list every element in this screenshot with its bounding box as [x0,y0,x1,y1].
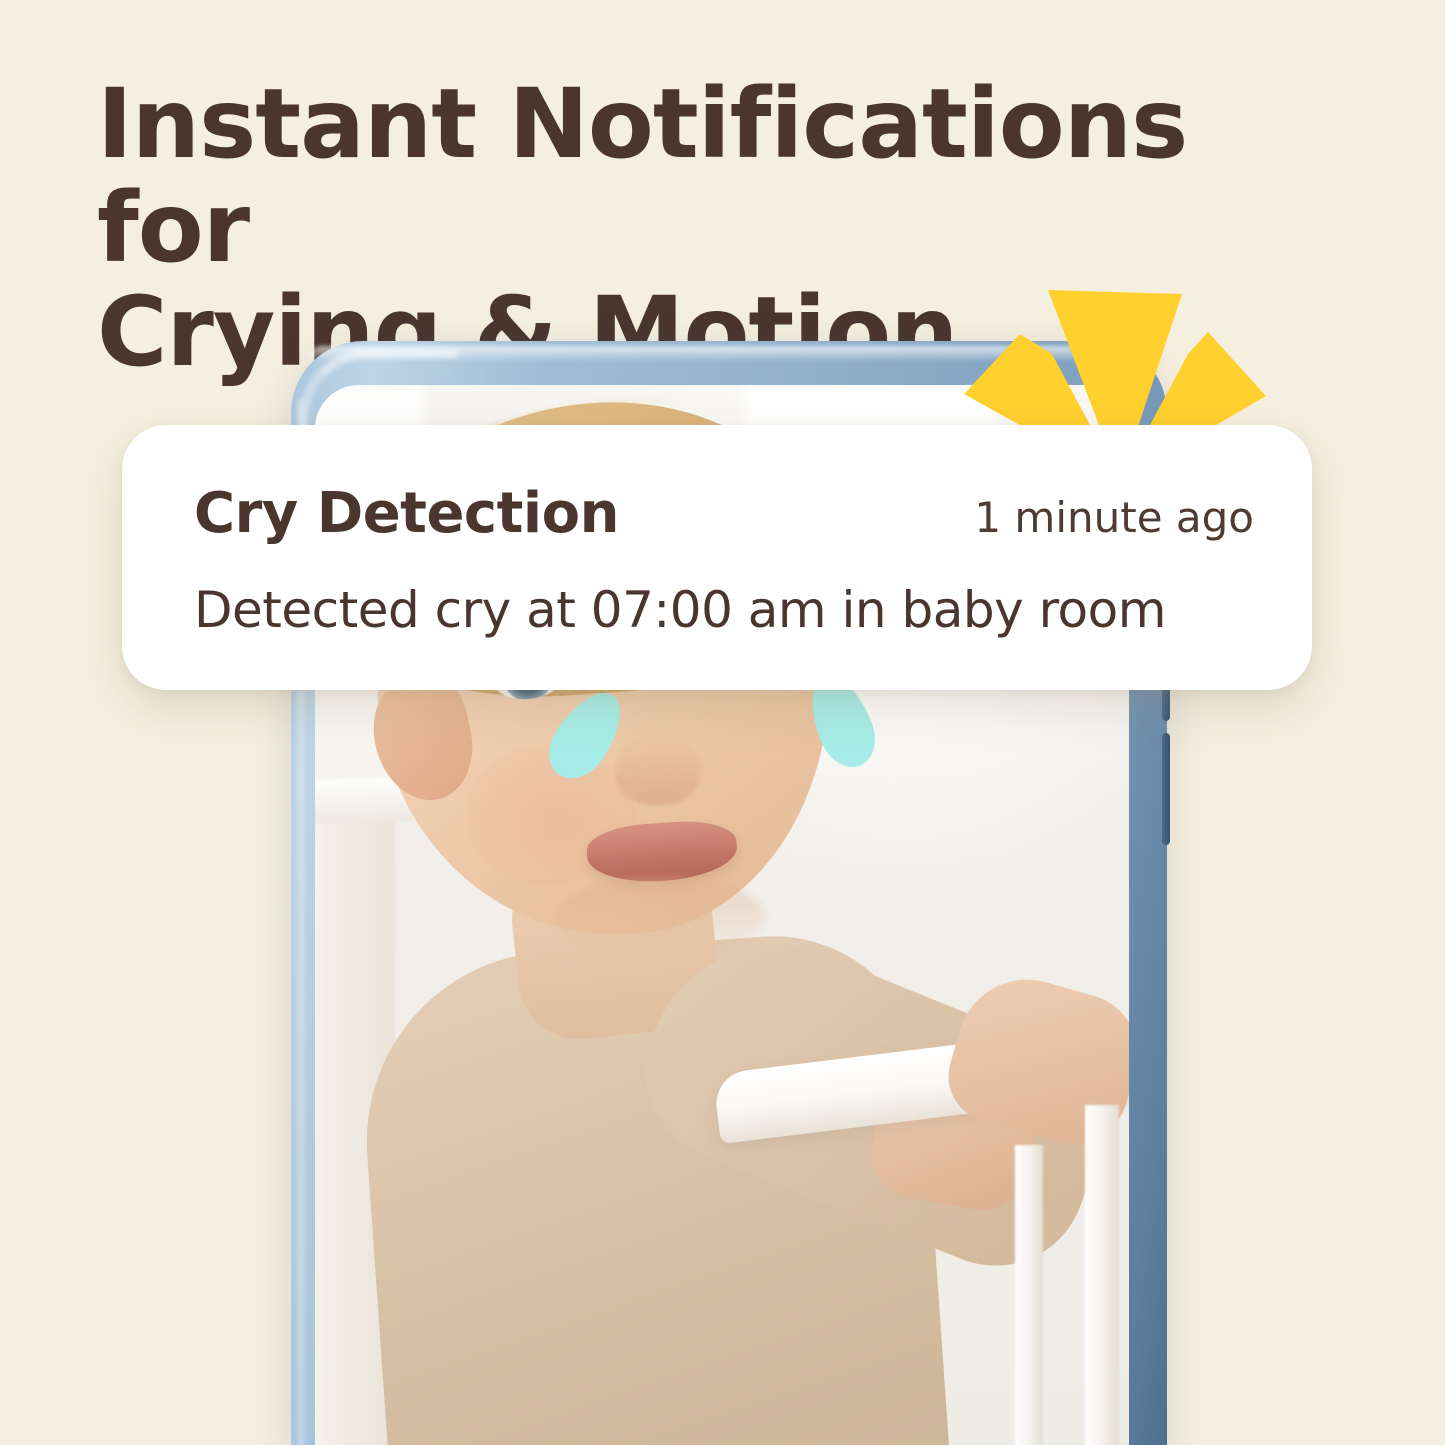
notification-header: Cry Detection 1 minute ago [194,483,1254,545]
notification-body: Detected cry at 07:00 am in baby room [194,580,1254,640]
notification-timestamp: 1 minute ago [974,494,1254,542]
baby-chin [555,877,765,957]
notification-card[interactable]: Cry Detection 1 minute ago Detected cry … [122,425,1312,690]
crib-slat [1015,1145,1043,1445]
promo-graphic: Instant Notifications for Crying & Motio… [0,0,1445,1445]
baby-nose [615,735,701,805]
crib-slat [1085,1105,1119,1445]
notification-title: Cry Detection [194,483,619,545]
volume-button[interactable] [1162,733,1170,845]
